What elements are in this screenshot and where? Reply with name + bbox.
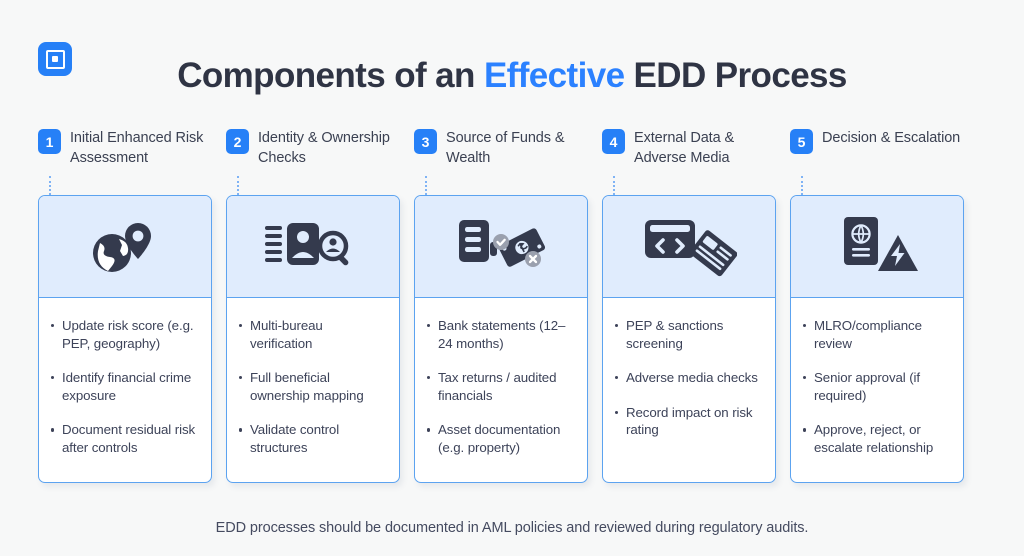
step-card-body: Update risk score (e.g. PEP, geography)I… — [39, 298, 211, 482]
step-title: Initial Enhanced Risk Assessment — [70, 128, 212, 168]
step-bullet: Identify financial crime exposure — [50, 369, 198, 404]
step-card-2[interactable]: Multi-bureau verificationFull beneficial… — [226, 195, 400, 483]
step-bullet: Bank statements (12–24 months) — [426, 317, 574, 352]
dotted-connector — [237, 176, 239, 195]
step-bullet-list: Multi-bureau verificationFull beneficial… — [238, 317, 386, 456]
step-bullet: Record impact on risk rating — [614, 404, 762, 439]
step-bullet-list: MLRO/compliance reviewSenior approval (i… — [802, 317, 950, 456]
step-card-body: PEP & sanctions screeningAdverse media c… — [603, 298, 775, 482]
step-card-body: MLRO/compliance reviewSenior approval (i… — [791, 298, 963, 482]
step-card-body: Bank statements (12–24 months)Tax return… — [415, 298, 587, 482]
code-window-icon — [603, 196, 775, 298]
step-title: Identity & Ownership Checks — [258, 128, 400, 168]
steps-container: 1 Initial Enhanced Risk Assessment Updat… — [38, 128, 986, 483]
footer-note: EDD processes should be documented in AM… — [0, 520, 1024, 536]
step-column-5: 5 Decision & Escalation MLRO/compliance … — [790, 128, 964, 483]
step-number-badge: 3 — [414, 129, 437, 154]
step-bullet: Tax returns / audited financials — [426, 369, 574, 404]
step-bullet: Document residual risk after controls — [50, 421, 198, 456]
title-accent: Effective — [484, 56, 625, 95]
step-bullet-list: PEP & sanctions screeningAdverse media c… — [614, 317, 762, 439]
step-bullet: Multi-bureau verification — [238, 317, 386, 352]
step-title: Decision & Escalation — [822, 128, 960, 149]
step-card-3[interactable]: Bank statements (12–24 months)Tax return… — [414, 195, 588, 483]
step-bullet: Approve, reject, or escalate relationshi… — [802, 421, 950, 456]
document-ledger-icon — [415, 196, 587, 298]
step-bullet-list: Update risk score (e.g. PEP, geography)I… — [50, 317, 198, 456]
step-card-body: Multi-bureau verificationFull beneficial… — [227, 298, 399, 482]
step-bullet: PEP & sanctions screening — [614, 317, 762, 352]
dotted-connector — [49, 176, 51, 195]
step-header-4: 4 External Data & Adverse Media — [602, 128, 776, 176]
step-number-badge: 1 — [38, 129, 61, 154]
step-title: External Data & Adverse Media — [634, 128, 776, 168]
step-card-1[interactable]: Update risk score (e.g. PEP, geography)I… — [38, 195, 212, 483]
passport-icon — [791, 196, 963, 298]
step-column-1: 1 Initial Enhanced Risk Assessment Updat… — [38, 128, 212, 483]
title-prefix: Components of an — [177, 56, 484, 95]
step-column-4: 4 External Data & Adverse Media — [602, 128, 776, 483]
dotted-connector — [801, 176, 803, 195]
step-header-2: 2 Identity & Ownership Checks — [226, 128, 400, 176]
step-column-3: 3 Source of Funds & Wealth — [414, 128, 588, 483]
step-header-3: 3 Source of Funds & Wealth — [414, 128, 588, 176]
id-card-icon — [227, 196, 399, 298]
dotted-connector — [613, 176, 615, 195]
step-bullet: Adverse media checks — [614, 369, 762, 387]
step-header-1: 1 Initial Enhanced Risk Assessment — [38, 128, 212, 176]
step-bullet: Full beneficial ownership mapping — [238, 369, 386, 404]
title-suffix: EDD Process — [624, 56, 846, 95]
step-number-badge: 2 — [226, 129, 249, 154]
step-bullet-list: Bank statements (12–24 months)Tax return… — [426, 317, 574, 456]
step-bullet: Update risk score (e.g. PEP, geography) — [50, 317, 198, 352]
step-bullet: Validate control structures — [238, 421, 386, 456]
step-title: Source of Funds & Wealth — [446, 128, 588, 168]
globe-icon — [39, 196, 211, 298]
step-number-badge: 5 — [790, 129, 813, 154]
step-column-2: 2 Identity & Ownership Checks Multi-bure… — [226, 128, 400, 483]
step-number-badge: 4 — [602, 129, 625, 154]
step-card-4[interactable]: PEP & sanctions screeningAdverse media c… — [602, 195, 776, 483]
step-bullet: Senior approval (if required) — [802, 369, 950, 404]
step-header-5: 5 Decision & Escalation — [790, 128, 964, 176]
step-card-5[interactable]: MLRO/compliance reviewSenior approval (i… — [790, 195, 964, 483]
page-title: Components of an Effective EDD Process — [0, 55, 1024, 97]
step-bullet: Asset documentation (e.g. property) — [426, 421, 574, 456]
dotted-connector — [425, 176, 427, 195]
step-bullet: MLRO/compliance review — [802, 317, 950, 352]
